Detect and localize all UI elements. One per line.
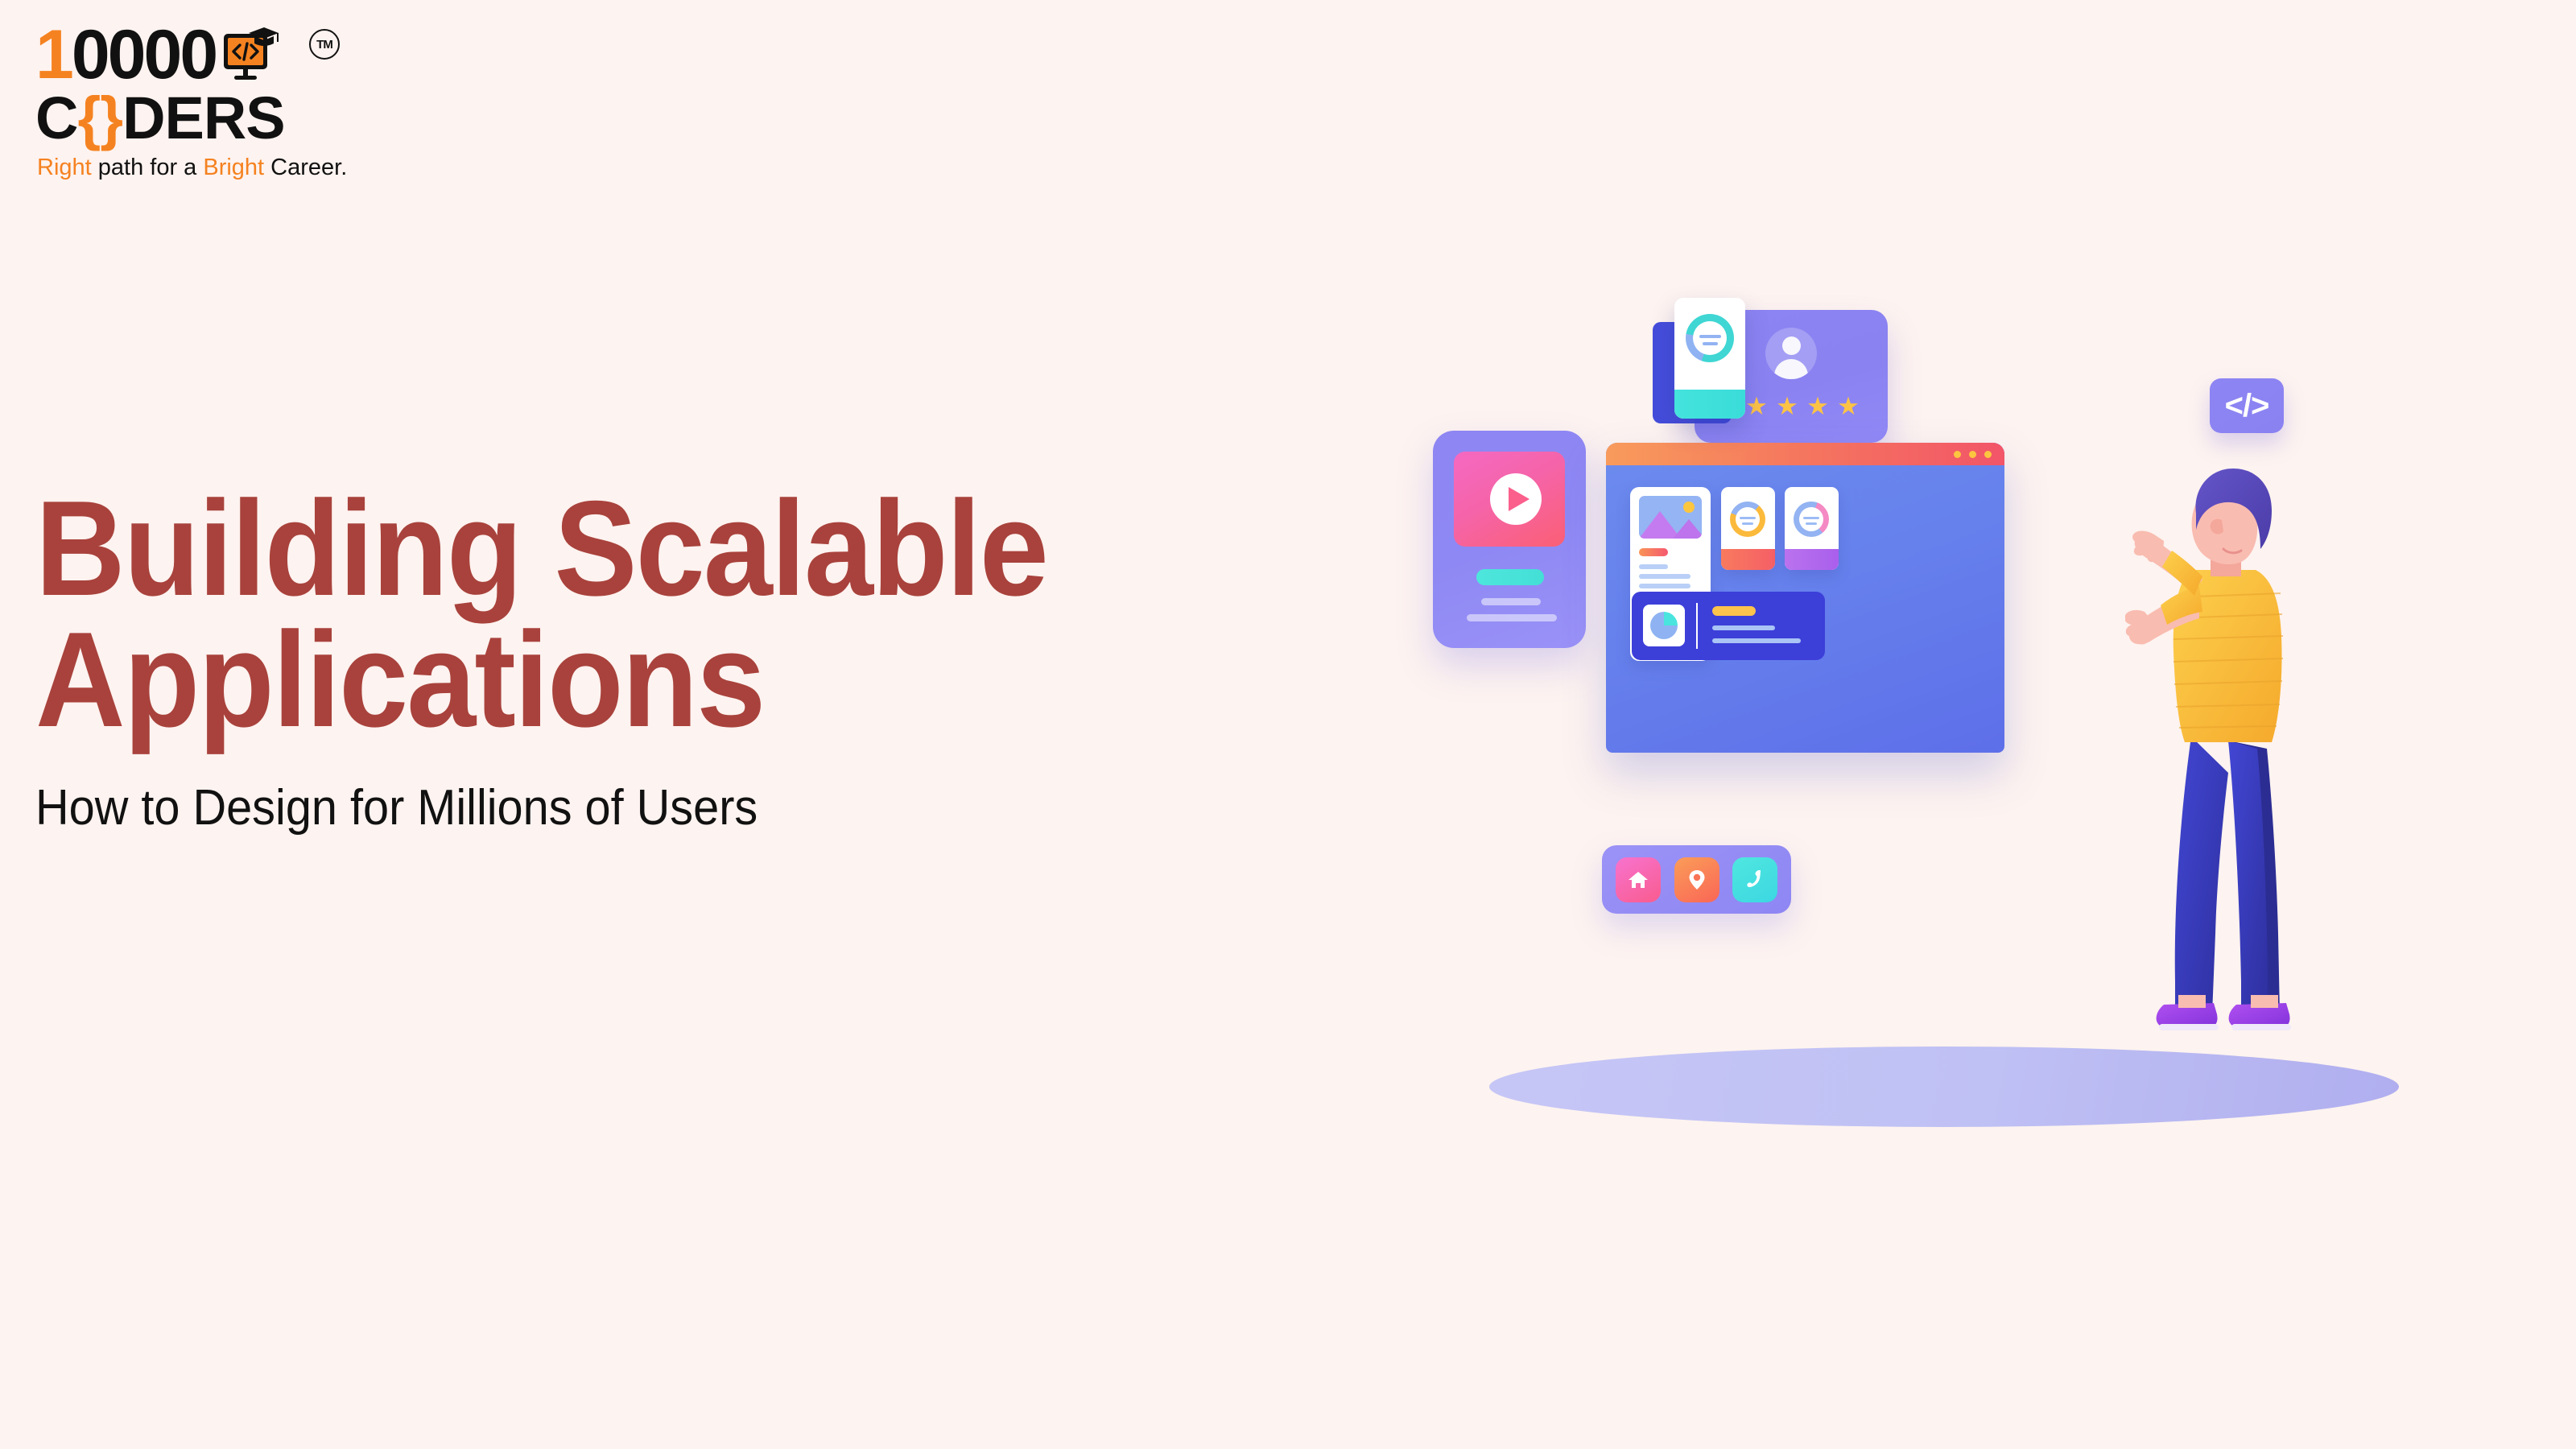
- pie-chart-icon: [1650, 612, 1678, 639]
- star-icon: ★: [1744, 395, 1769, 419]
- article-text-line: [1639, 584, 1690, 588]
- metric-text-line: [1742, 522, 1753, 525]
- window-controls: [1954, 451, 1992, 458]
- floating-metric-card[interactable]: [1674, 298, 1745, 419]
- metric-card-footer: [1785, 549, 1839, 570]
- brand-logo[interactable]: 10000: [35, 11, 341, 180]
- logo-wordmark-brace: {}: [77, 85, 122, 151]
- play-triangle-icon: [1509, 487, 1529, 511]
- logo-wordmark-c: C: [35, 85, 77, 151]
- page-title-line2: Applications: [35, 614, 1235, 745]
- logo-number-row: 10000: [35, 18, 279, 87]
- home-icon[interactable]: [1616, 857, 1661, 902]
- tagline-mid: path for a: [92, 155, 204, 180]
- logo-number-one: 1: [35, 16, 72, 93]
- tagline-right: Right: [37, 155, 92, 180]
- floating-card-footer: [1674, 390, 1745, 419]
- metric-text-line: [1703, 342, 1718, 345]
- metric-text-line: [1699, 335, 1721, 338]
- star-icon: ★: [1775, 395, 1799, 419]
- metric-card-orange: [1721, 487, 1775, 570]
- window-dot: [1954, 451, 1961, 458]
- page-subtitle: How to Design for Millions of Users: [35, 781, 1249, 836]
- video-preview-card: [1433, 431, 1586, 648]
- app-icon-bar: [1602, 845, 1791, 914]
- logo-tagline: Right path for a Bright Career.: [37, 155, 347, 181]
- tagline-bright: Bright: [203, 155, 264, 180]
- star-icon: ★: [1806, 395, 1830, 419]
- window-dot: [1969, 451, 1976, 458]
- logo-number-zeros: 0000: [72, 16, 216, 93]
- hero-text-block: Building Scalable Applications How to De…: [35, 483, 1340, 836]
- logo-wordmark-row: C{}DERS: [35, 89, 285, 148]
- donut-chart-icon: [1794, 502, 1829, 537]
- phone-icon[interactable]: [1732, 857, 1777, 902]
- slide-canvas: 10000: [0, 0, 2576, 1449]
- stat-title-pill: [1712, 606, 1756, 616]
- pie-chart-container: [1643, 605, 1685, 646]
- metric-card-purple: [1785, 487, 1839, 570]
- user-avatar-icon: [1765, 328, 1817, 379]
- stat-text-line: [1712, 638, 1801, 643]
- stat-divider: [1696, 603, 1698, 649]
- metric-card-footer: [1721, 549, 1775, 570]
- avatar-body: [1774, 359, 1808, 379]
- donut-hole: [1736, 507, 1760, 531]
- mountain-image-icon: [1639, 496, 1702, 539]
- sun-icon: [1683, 502, 1695, 513]
- video-title-pill: [1476, 569, 1544, 585]
- video-text-line: [1481, 598, 1541, 605]
- donut-hole: [1693, 321, 1727, 355]
- trademark-symbol: TM: [309, 29, 340, 60]
- logo-wordmark-ders: DERS: [122, 85, 285, 151]
- code-badge: </>: [2210, 378, 2284, 433]
- donut-hole: [1799, 507, 1823, 531]
- metric-text-line: [1806, 522, 1817, 525]
- code-monitor-icon: [222, 26, 279, 85]
- avatar-head: [1782, 336, 1801, 355]
- ui-design-illustration: ★ ★ ★ ★ ★: [1401, 274, 2528, 1143]
- metric-text-line: [1803, 517, 1819, 519]
- browser-titlebar: [1606, 443, 2004, 465]
- logo-number: 10000: [35, 23, 216, 87]
- left-hand: [2132, 531, 2164, 563]
- stat-summary-panel: [1632, 592, 1825, 660]
- article-text-line: [1639, 574, 1690, 579]
- video-thumbnail: [1454, 452, 1565, 547]
- metric-text-line: [1740, 517, 1756, 519]
- video-text-line: [1467, 614, 1557, 621]
- star-icon: ★: [1836, 395, 1860, 419]
- location-pin-icon[interactable]: [1674, 857, 1719, 902]
- person-illustration: [2125, 451, 2351, 1087]
- article-text-line: [1639, 564, 1668, 569]
- logo-wordmark: C{}DERS: [35, 89, 285, 148]
- window-dot: [1984, 451, 1992, 458]
- tagline-end: Career.: [264, 155, 347, 180]
- donut-chart-icon: [1686, 314, 1734, 362]
- donut-chart-icon: [1730, 502, 1765, 537]
- page-title-line1: Building Scalable: [35, 483, 1235, 614]
- browser-mockup: [1606, 443, 2004, 753]
- left-leg: [2175, 737, 2228, 1014]
- article-title-pill: [1639, 548, 1668, 556]
- mountain-shape: [1673, 519, 1702, 539]
- stat-text-line: [1712, 625, 1775, 630]
